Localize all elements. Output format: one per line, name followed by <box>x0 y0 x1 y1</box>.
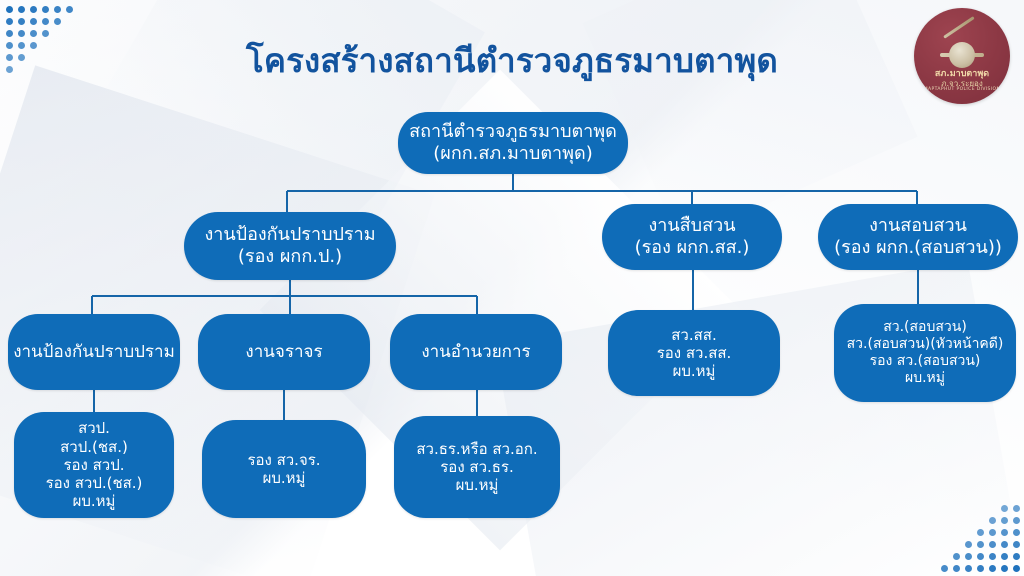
node-traffic-line-1: งานจราจร <box>245 342 322 363</box>
node-root-line-1: สถานีตำรวจภูธรมาบตาพุด <box>409 121 617 143</box>
node-administration-staff-line-1: สว.ธร.หรือ สว.อก. <box>416 440 537 458</box>
node-inquiry-line-2: (รอง ผกก.(สอบสวน)) <box>834 237 1002 259</box>
slide-canvas: โครงสร้างสถานีตำรวจภูธรมาบตาพุด สภ.มาบตา… <box>0 0 1024 576</box>
node-prevention-sub[interactable]: งานป้องกันปราบปราม <box>8 314 180 390</box>
node-traffic-staff-line-2: ผบ.หมู่ <box>247 469 320 487</box>
node-investigation-staff-line-1: สว.สส. <box>657 326 732 344</box>
node-inquiry-staff-line-1: สว.(สอบสวน) <box>847 319 1004 336</box>
node-traffic-staff-line-1: รอง สว.จร. <box>247 451 320 469</box>
node-investigation-line-2: (รอง ผกก.สส.) <box>635 237 750 259</box>
node-prevention-sub-line-1: งานป้องกันปราบปราม <box>13 342 175 363</box>
node-inquiry-staff-line-3: รอง สว.(สอบสวน) <box>847 353 1004 370</box>
node-administration-line-1: งานอำนวยการ <box>421 342 530 363</box>
node-inquiry-line-1: งานสอบสวน <box>834 215 1002 237</box>
node-administration-staff[interactable]: สว.ธร.หรือ สว.อก. รอง สว.ธร. ผบ.หมู่ <box>394 416 560 518</box>
node-administration-staff-line-3: ผบ.หมู่ <box>416 476 537 494</box>
node-prevention-staff-line-3: รอง สวป. <box>46 456 143 474</box>
node-prevention-staff-line-1: สวป. <box>46 419 143 437</box>
node-investigation-staff-line-3: ผบ.หมู่ <box>657 362 732 380</box>
node-root[interactable]: สถานีตำรวจภูธรมาบตาพุด (ผกก.สภ.มาบตาพุด) <box>398 112 628 174</box>
node-prevention-line-2: (รอง ผกก.ป.) <box>204 246 375 268</box>
node-root-line-2: (ผกก.สภ.มาบตาพุด) <box>409 143 617 165</box>
node-inquiry-staff-line-2: สว.(สอบสวน)(หัวหน้าคดี) <box>847 336 1004 353</box>
node-prevention-staff[interactable]: สวป. สวป.(ชส.) รอง สวป. รอง สวป.(ชส.) ผบ… <box>14 412 174 518</box>
node-prevention-staff-line-5: ผบ.หมู่ <box>46 492 143 510</box>
node-prevention[interactable]: งานป้องกันปราบปราม (รอง ผกก.ป.) <box>184 212 396 280</box>
node-traffic[interactable]: งานจราจร <box>198 314 370 390</box>
node-administration-staff-line-2: รอง สว.ธร. <box>416 458 537 476</box>
node-inquiry[interactable]: งานสอบสวน (รอง ผกก.(สอบสวน)) <box>818 204 1018 270</box>
node-administration[interactable]: งานอำนวยการ <box>390 314 562 390</box>
node-prevention-staff-line-4: รอง สวป.(ชส.) <box>46 474 143 492</box>
node-investigation[interactable]: งานสืบสวน (รอง ผกก.สส.) <box>602 204 782 270</box>
node-prevention-staff-line-2: สวป.(ชส.) <box>46 438 143 456</box>
node-inquiry-staff[interactable]: สว.(สอบสวน) สว.(สอบสวน)(หัวหน้าคดี) รอง … <box>834 304 1016 402</box>
node-traffic-staff[interactable]: รอง สว.จร. ผบ.หมู่ <box>202 420 366 518</box>
node-inquiry-staff-line-4: ผบ.หมู่ <box>847 370 1004 387</box>
node-investigation-staff[interactable]: สว.สส. รอง สว.สส. ผบ.หมู่ <box>608 310 780 396</box>
node-prevention-line-1: งานป้องกันปราบปราม <box>204 224 375 246</box>
node-investigation-staff-line-2: รอง สว.สส. <box>657 344 732 362</box>
node-investigation-line-1: งานสืบสวน <box>635 215 750 237</box>
